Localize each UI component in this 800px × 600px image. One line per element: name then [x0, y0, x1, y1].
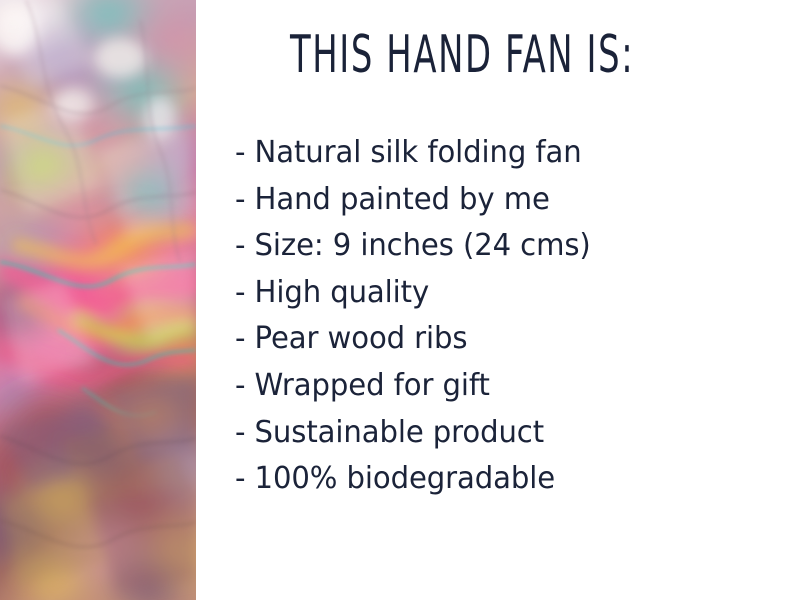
- feature-list: - Natural silk folding fan - Hand painte…: [235, 130, 795, 503]
- content-panel: THIS HAND FAN IS: - Natural silk folding…: [196, 0, 800, 600]
- list-item: - Hand painted by me: [235, 177, 778, 224]
- list-item: - Pear wood ribs: [235, 316, 778, 363]
- list-item: - 100% biodegradable: [235, 456, 778, 503]
- list-item: - High quality: [235, 270, 778, 317]
- list-item: - Size: 9 inches (24 cms): [235, 223, 778, 270]
- list-item: - Wrapped for gift: [235, 363, 778, 410]
- list-item: - Natural silk folding fan: [235, 130, 778, 177]
- page-title: THIS HAND FAN IS:: [290, 27, 634, 84]
- product-description-slide: THIS HAND FAN IS: - Natural silk folding…: [0, 0, 800, 600]
- silk-scarf-illustration: [0, 0, 196, 600]
- list-item: - Sustainable product: [235, 410, 778, 457]
- silk-scarf-photo: [0, 0, 196, 600]
